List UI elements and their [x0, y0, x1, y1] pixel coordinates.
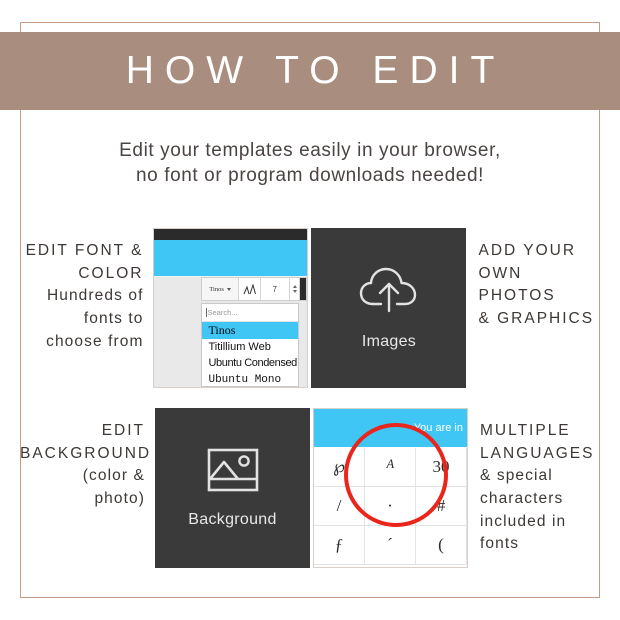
edit-background-heading-line-1: EDIT — [20, 420, 145, 443]
font-size-input[interactable]: 7 — [261, 278, 290, 300]
font-list-item-tinos[interactable]: Tinos — [202, 322, 298, 339]
multiple-languages-line-4: characters — [480, 488, 600, 511]
app-titlebar — [154, 229, 307, 240]
edit-font-body-line-3: choose from — [20, 331, 143, 354]
edit-font-text-block: EDIT FONT & COLOR Hundreds of fonts to c… — [20, 228, 153, 353]
spinner-up-icon[interactable] — [293, 285, 297, 288]
row-top: EDIT FONT & COLOR Hundreds of fonts to c… — [20, 228, 600, 388]
spinner-down-icon[interactable] — [293, 290, 297, 293]
charmap-cell[interactable]: / — [314, 487, 365, 526]
charmap-cell[interactable]: ( — [416, 526, 467, 565]
multiple-languages-line-3: & special — [480, 465, 600, 488]
row-bottom: EDIT BACKGROUND (color & photo) Backgrou… — [20, 408, 600, 570]
edit-font-body-line-1: Hundreds of — [20, 285, 143, 308]
charmap-banner: You are in — [314, 409, 467, 447]
font-family-value: Tinos — [209, 286, 224, 293]
font-dropdown[interactable]: Search... Tinos Titillium Web Ubuntu Con… — [201, 303, 299, 387]
multiple-languages-text-block: MULTIPLE LANGUAGES & special characters … — [468, 408, 600, 556]
edit-background-body-line-1: (color & — [20, 465, 145, 488]
charmap-cell[interactable]: ƒ — [314, 526, 365, 565]
multiple-languages-line-2: LANGUAGES — [480, 443, 600, 466]
cloud-upload-icon — [357, 266, 421, 319]
font-size-stepper[interactable] — [290, 278, 301, 300]
charmap-cell[interactable]: 30 — [416, 448, 467, 487]
character-map-panel[interactable]: You are in ℘ ᴬ 30 / · # ƒ ´ ( — [313, 408, 468, 568]
background-card-label: Background — [188, 511, 276, 529]
app-blue-banner — [154, 240, 307, 276]
font-list-item-ubuntu-condensed[interactable]: Ubuntu Condensed — [202, 355, 298, 372]
charmap-banner-text: You are in — [414, 422, 463, 434]
edit-background-heading-line-2: BACKGROUND — [20, 443, 145, 466]
subtitle-line-2: no font or program downloads needed! — [50, 163, 570, 188]
charmap-cell[interactable]: · — [365, 487, 416, 526]
app-canvas: Tinos 7 — [154, 277, 307, 387]
toolbar-color-swatch[interactable] — [300, 278, 306, 300]
add-photos-text-block: ADD YOUR OWN PHOTOS & GRAPHICS — [466, 228, 600, 331]
images-card[interactable]: Images — [311, 228, 466, 388]
edit-background-body-line-2: photo) — [20, 488, 145, 511]
chevron-down-icon — [227, 288, 231, 291]
image-placeholder-icon — [207, 448, 259, 497]
edit-font-heading-line-2: COLOR — [20, 263, 143, 286]
charmap-grid[interactable]: ℘ ᴬ 30 / · # ƒ ´ ( — [314, 448, 467, 567]
header-band: HOW TO EDIT — [0, 32, 620, 110]
add-photos-line-2: OWN PHOTOS — [478, 263, 600, 308]
font-editor-panel[interactable]: Tinos 7 — [153, 228, 308, 388]
charmap-cell[interactable]: # — [416, 487, 467, 526]
subtitle-line-1: Edit your templates easily in your brows… — [50, 138, 570, 163]
add-photos-line-1: ADD YOUR — [478, 240, 600, 263]
font-size-icon[interactable] — [239, 278, 261, 300]
font-family-select[interactable]: Tinos — [202, 278, 238, 300]
font-list-item-ubuntu-mono[interactable]: Ubuntu Mono — [202, 372, 298, 389]
font-toolbar[interactable]: Tinos 7 — [201, 277, 307, 301]
page-title: HOW TO EDIT — [115, 49, 506, 93]
multiple-languages-line-1: MULTIPLE — [480, 420, 600, 443]
poster: HOW TO EDIT Edit your templates easily i… — [0, 0, 620, 620]
multiple-languages-line-6: fonts — [480, 533, 600, 556]
images-card-label: Images — [362, 333, 416, 351]
font-list-item-titillium-web[interactable]: Titillium Web — [202, 339, 298, 356]
font-search-input[interactable]: Search... — [202, 304, 298, 322]
add-photos-line-3: & GRAPHICS — [478, 308, 600, 331]
charmap-cell[interactable]: ´ — [365, 526, 416, 565]
edit-font-body-line-2: fonts to — [20, 308, 143, 331]
charmap-cell-highlighted[interactable]: ᴬ — [365, 448, 416, 487]
font-list[interactable]: Tinos Titillium Web Ubuntu Condensed Ubu… — [202, 322, 298, 388]
edit-background-text-block: EDIT BACKGROUND (color & photo) — [20, 408, 155, 511]
charmap-cell[interactable]: ℘ — [314, 448, 365, 487]
edit-font-heading-line-1: EDIT FONT & — [20, 240, 143, 263]
multiple-languages-line-5: included in — [480, 511, 600, 534]
subtitle: Edit your templates easily in your brows… — [50, 138, 570, 188]
background-card[interactable]: Background — [155, 408, 310, 568]
